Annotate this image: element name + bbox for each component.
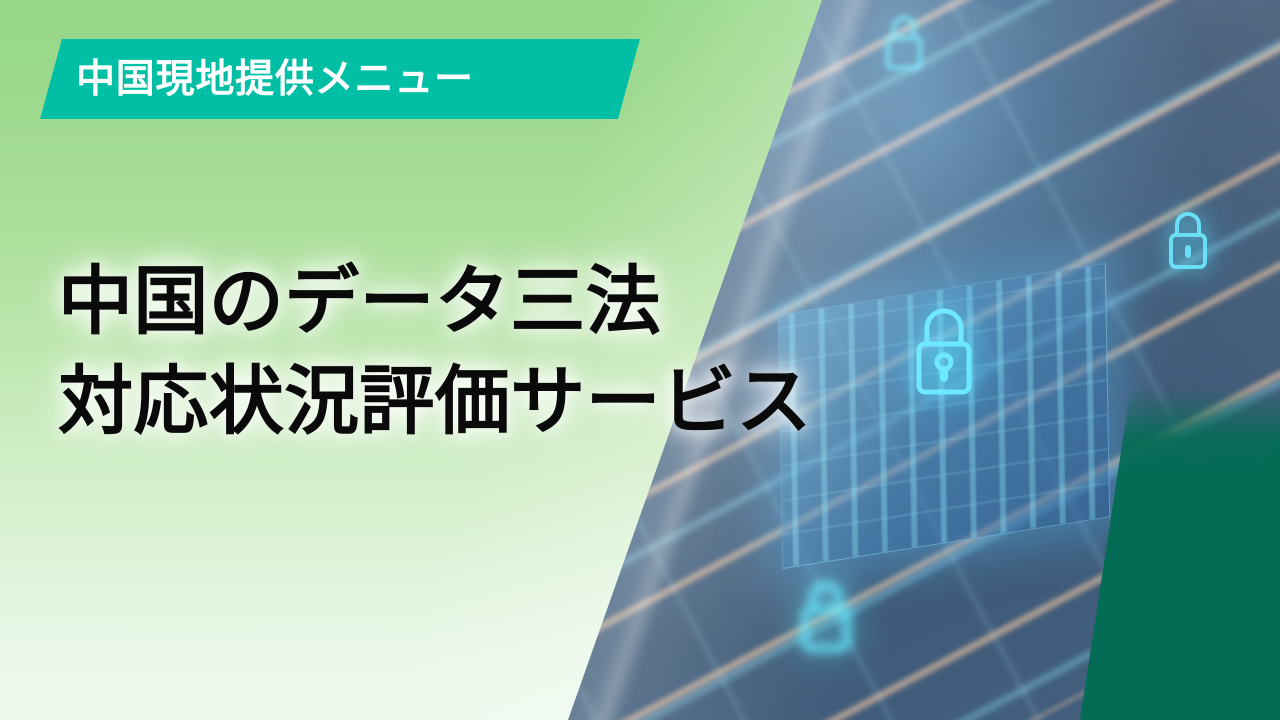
category-ribbon: 中国現地提供メニュー — [40, 39, 640, 119]
category-ribbon-label: 中国現地提供メニュー — [76, 60, 474, 99]
page-title: 中国のデータ三法 対応状況評価サービス — [58, 252, 1018, 452]
padlock-icon — [880, 10, 928, 74]
page-title-line-1: 中国のデータ三法 — [58, 252, 1018, 352]
page-title-line-2: 対応状況評価サービス — [58, 352, 1018, 452]
padlock-icon — [795, 572, 857, 656]
slide-canvas: 中国現地提供メニュー 中国のデータ三法 対応状況評価サービス — [0, 0, 1280, 720]
